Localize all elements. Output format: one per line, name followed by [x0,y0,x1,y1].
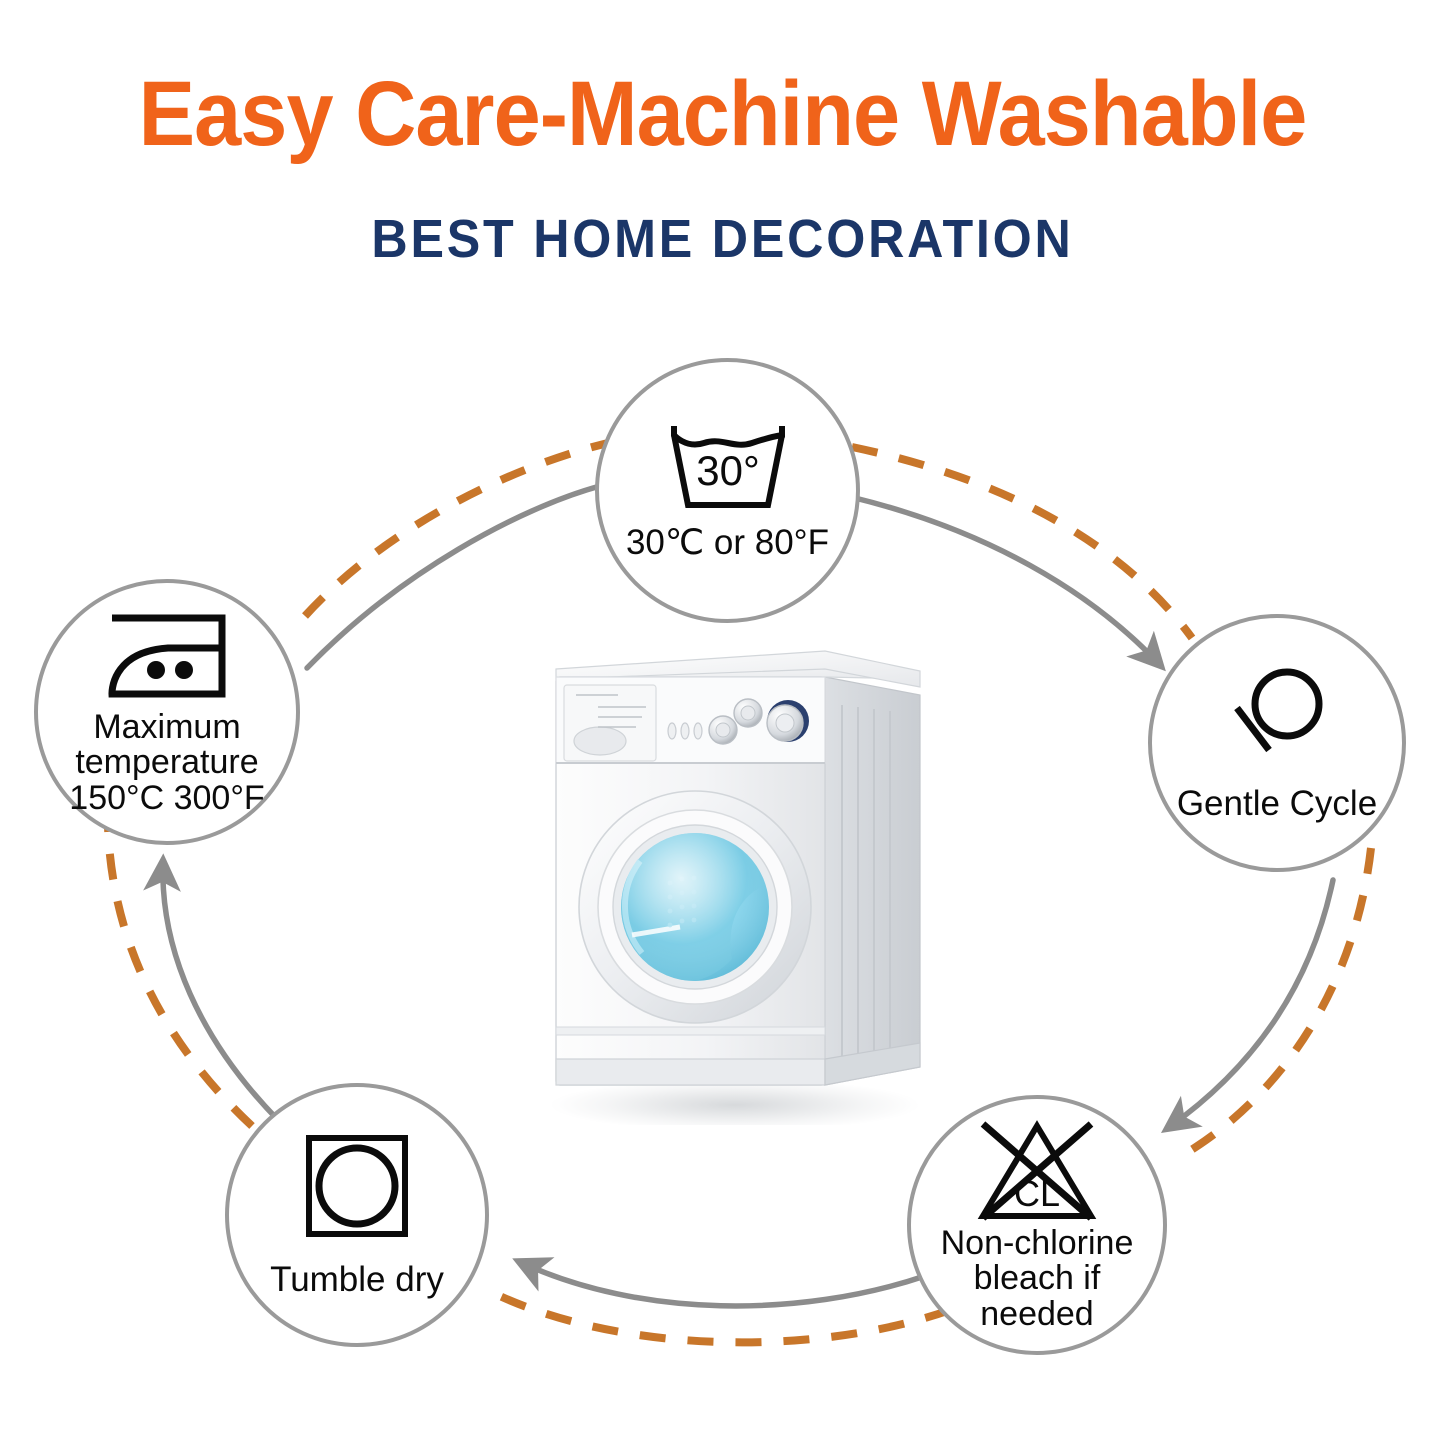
arc-bleach-to-tumble [520,1262,925,1306]
washer-drawer-handle [574,727,626,755]
node-iron-max-temperature[interactable]: Maximum temperature 150°C 300°F [34,579,300,845]
iron-dot-1 [147,661,165,679]
gentle-cycle-icon [1217,664,1337,764]
infographic-page: Easy Care-Machine Washable BEST HOME DEC… [0,0,1445,1445]
iron-two-dots-icon [94,608,240,704]
arc-gentle-to-bleach [1168,880,1333,1128]
node-iron-caption: Maximum temperature 150°C 300°F [69,710,264,816]
iron-dot-2 [175,661,193,679]
dash-iron-to-wash [305,440,622,616]
node-iron-caption-line-3: 150°C 300°F [69,781,264,816]
node-bleach-caption-line-2: bleach if [941,1261,1134,1296]
node-bleach-caption: Non-chlorine bleach if needed [941,1226,1134,1332]
no-chlorine-bleach-icon: CL [969,1118,1105,1224]
node-iron-caption-line-1: Maximum [69,710,264,745]
node-gentle-cycle[interactable]: Gentle Cycle [1148,614,1406,872]
svg-text:CL: CL [1014,1173,1060,1214]
node-non-chlorine-bleach[interactable]: CL Non-chlorine bleach if needed [907,1095,1167,1355]
node-bleach-caption-line-1: Non-chlorine [941,1226,1134,1261]
washing-machine-svg [520,635,960,1125]
tumble-dry-icon [301,1132,413,1240]
node-gentle-caption: Gentle Cycle [1177,786,1377,822]
washer-shadow [550,1079,920,1125]
node-tumble-caption: Tumble dry [270,1262,444,1298]
dash-wash-to-gentle [852,447,1192,638]
washer-body-seam [556,1027,825,1035]
wash-tub-30-icon: 30° [664,419,792,515]
washer-plinth [556,1059,825,1085]
dash-bleach-to-tumble [487,1290,950,1342]
node-wash-temperature[interactable]: 30° 30℃ or 80°F [595,358,860,623]
node-tumble-dry[interactable]: Tumble dry [225,1083,489,1347]
node-iron-caption-line-2: temperature [69,745,264,780]
washer-side-panel [825,677,920,1085]
washer-door-glass [621,833,769,981]
dash-gentle-to-bleach [1188,848,1371,1152]
node-wash-caption: 30℃ or 80°F [626,525,829,561]
washing-machine-image [520,635,960,1125]
svg-text:30°: 30° [696,447,760,494]
washer-indicator-lights [668,723,702,739]
arc-tumble-to-iron [163,862,278,1120]
node-bleach-caption-line-3: needed [941,1297,1134,1332]
